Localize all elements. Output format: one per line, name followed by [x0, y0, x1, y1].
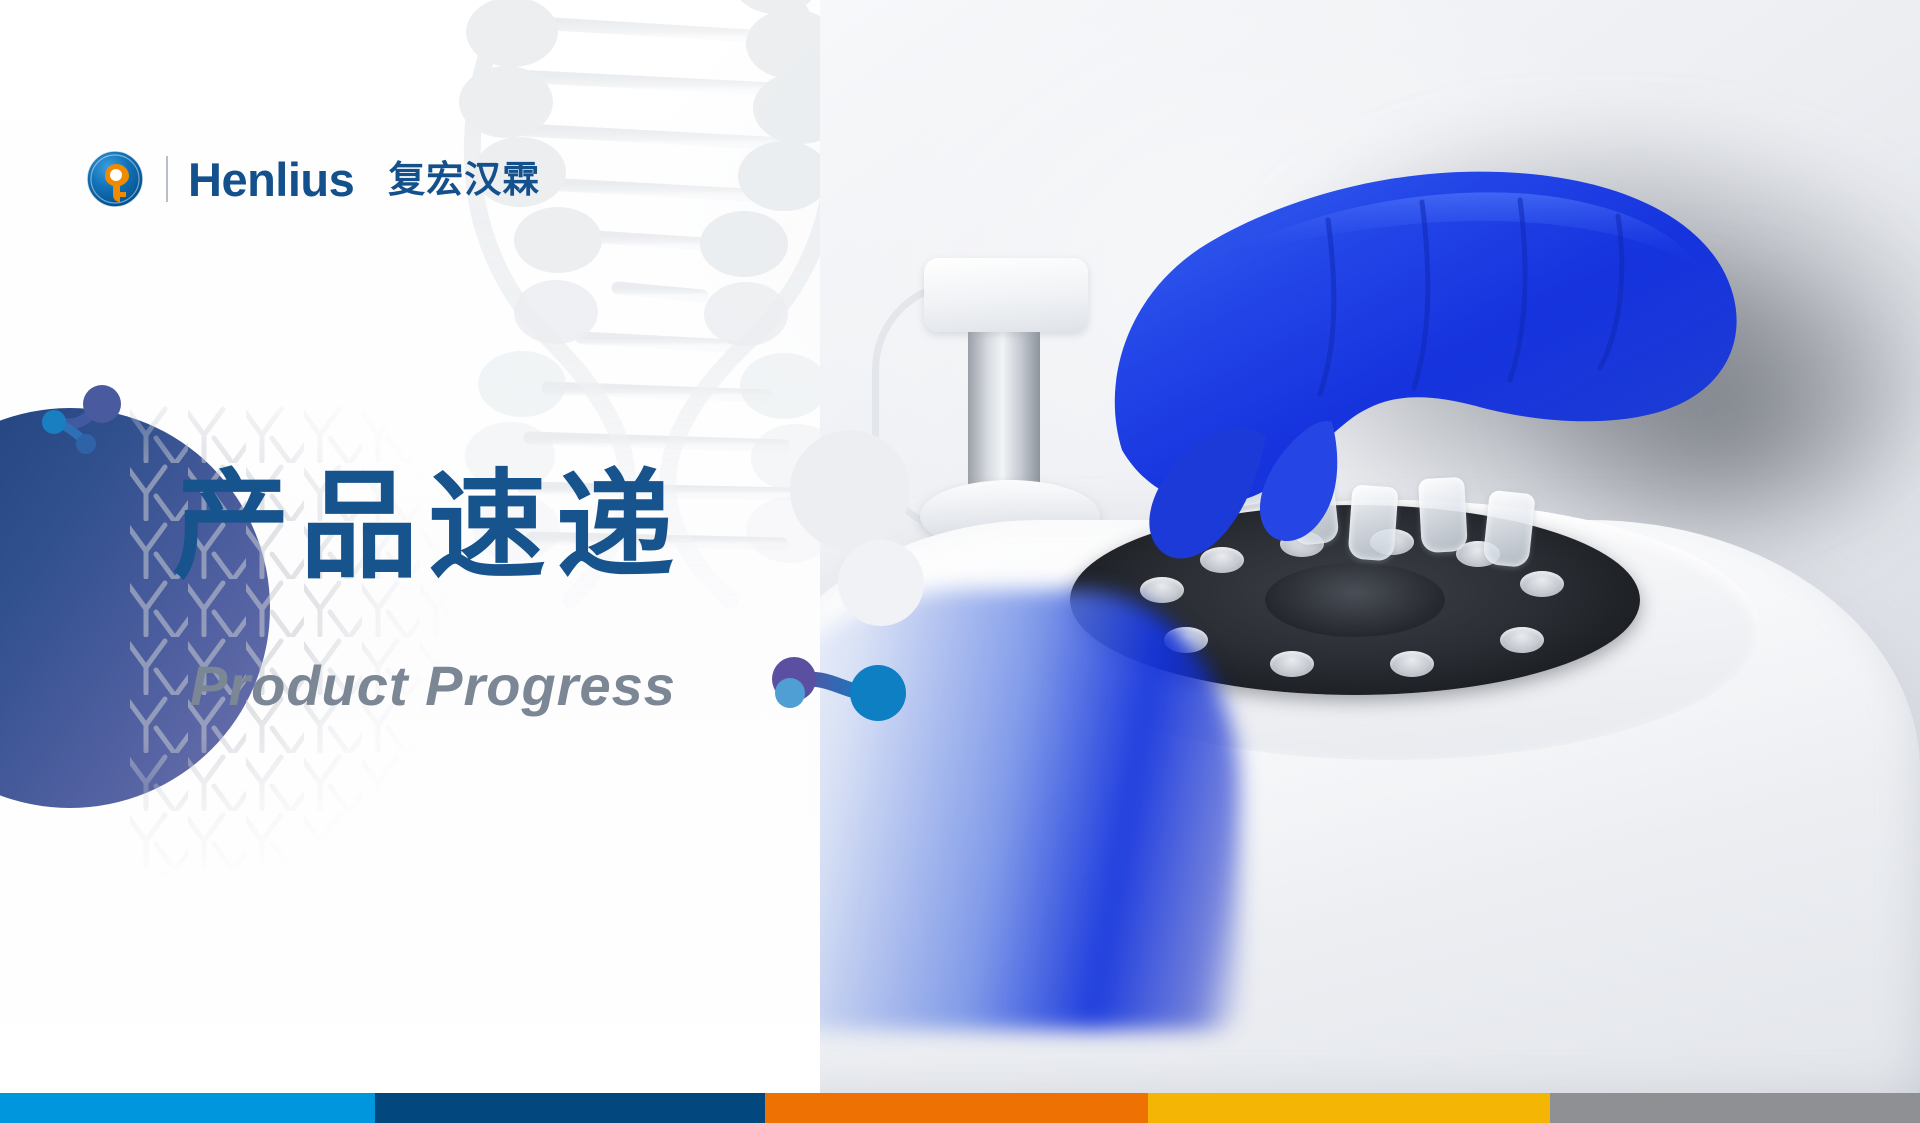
- logo-divider: [166, 156, 168, 202]
- decorative-ghost-circle: [790, 430, 910, 550]
- bar-segment-orange: [765, 1093, 1148, 1123]
- decorative-ghost-circle: [838, 540, 924, 626]
- decorative-dot: [775, 678, 805, 708]
- rotor-hole: [1140, 577, 1184, 603]
- henlius-circle-logo-icon: [86, 150, 144, 208]
- gloved-hand-icon: [1070, 150, 1750, 580]
- page-title-cn: 产品速递: [172, 468, 684, 586]
- molecule-node-icon: [28, 380, 148, 465]
- bottom-color-bar: [0, 1093, 1920, 1123]
- rotor-hole: [1500, 627, 1544, 653]
- centrifuge-cap: [924, 258, 1088, 332]
- presentation-slide: Henlius 复宏汉霖 产品速递 Product Progress: [0, 0, 1920, 1123]
- rotor-hole: [1270, 651, 1314, 677]
- brand-name-en: Henlius: [188, 156, 354, 203]
- brand-name-cn: 复宏汉霖: [388, 161, 540, 198]
- bar-segment-grey: [1550, 1093, 1920, 1123]
- brand-logo[interactable]: Henlius 复宏汉霖: [86, 148, 540, 210]
- bar-segment-light-blue: [0, 1093, 375, 1123]
- bar-segment-dark-blue: [375, 1093, 765, 1123]
- page-subtitle-en: Product Progress: [190, 658, 676, 714]
- lab-centrifuge-photo: [820, 0, 1920, 1093]
- rotor-hole: [1390, 651, 1434, 677]
- bar-segment-gold: [1148, 1093, 1550, 1123]
